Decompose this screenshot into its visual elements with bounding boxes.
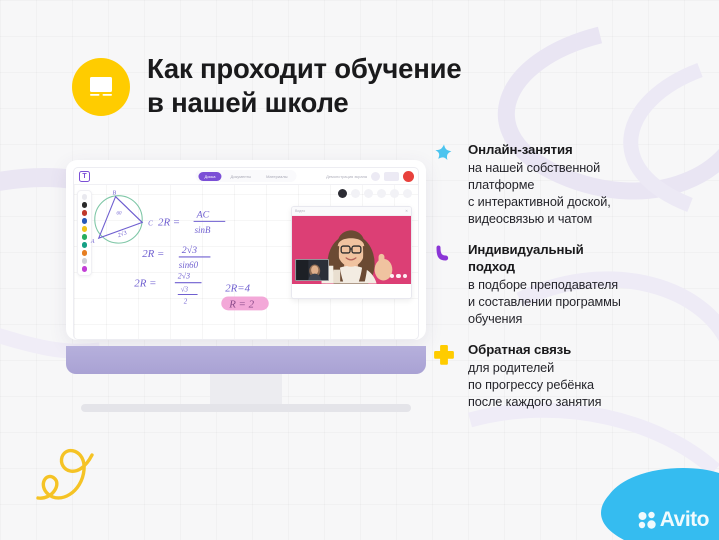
list-item: Онлайн-занятия на нашей собственной плат…: [432, 142, 704, 228]
monitor-body: T Доска Документы Материалы Демонстрация…: [66, 160, 426, 340]
formula-1-lhs: 2R =: [158, 216, 180, 228]
monitor-glyph: [86, 74, 116, 100]
avito-wordmark: Avito: [660, 508, 709, 532]
label-vertex-a: A: [90, 239, 95, 245]
video-panel-title: Видео: [295, 209, 305, 213]
monitor-base: [81, 404, 411, 412]
formula-3-subden: 2: [184, 298, 188, 305]
formula-2-lhs: 2R =: [142, 248, 164, 260]
plus-icon: [432, 342, 458, 411]
list-item-body: в подборе преподавателя и составлении пр…: [468, 277, 621, 328]
formula-2-den: sin60: [179, 260, 199, 270]
page-title: Как проходит обучение в нашей школе: [147, 52, 461, 120]
squiggle-decoration: [38, 451, 92, 499]
video-stage: [292, 216, 411, 284]
list-item-title: Обратная связь: [468, 342, 601, 359]
feature-list: Онлайн-занятия на нашей собственной плат…: [432, 142, 704, 425]
formula-4: 2R=4: [225, 283, 250, 295]
label-angle: 60: [117, 211, 122, 216]
video-controls[interactable]: [390, 274, 408, 279]
star-icon: [432, 142, 458, 228]
formula-2-num: 2√3: [182, 245, 197, 256]
whiteboard-screen: T Доска Документы Материалы Демонстрация…: [73, 167, 419, 340]
list-item-title: Индивидуальный подход: [468, 242, 621, 276]
list-item-title: Онлайн-занятия: [468, 142, 611, 159]
formula-1-den: sinB: [195, 225, 211, 235]
video-panel-footer: [292, 284, 411, 298]
formula-1-num: AC: [196, 209, 210, 220]
close-icon[interactable]: ✕: [405, 209, 408, 213]
avito-logo-icon: [637, 510, 657, 530]
mic-icon[interactable]: [390, 274, 395, 279]
monitor-icon: [72, 58, 130, 116]
video-call-panel: Видео ✕: [291, 206, 412, 299]
list-item-body: на нашей собственной платформе с интерак…: [468, 160, 611, 228]
page-header: Как проходит обучение в нашей школе: [72, 52, 461, 120]
monitor-mockup: T Доска Документы Материалы Демонстрация…: [66, 160, 426, 412]
label-vertex-c: C: [148, 220, 153, 227]
more-options-icon[interactable]: [403, 274, 408, 279]
list-item: Индивидуальный подход в подборе преподав…: [432, 242, 704, 328]
monitor-chin: [66, 346, 426, 374]
formula-3-lhs: 2R =: [134, 278, 156, 290]
formula-3-subnum: √3: [181, 286, 189, 294]
list-item-body: для родителей по прогрессу ребёнка после…: [468, 360, 601, 411]
list-item: Обратная связь для родителей по прогресс…: [432, 342, 704, 411]
hook-icon: [432, 242, 458, 328]
picture-in-picture[interactable]: [295, 259, 329, 281]
monitor-stand: [210, 374, 282, 404]
avito-watermark: Avito: [637, 508, 709, 532]
camera-icon[interactable]: [396, 274, 401, 279]
formula-3-num: 2√3: [178, 272, 190, 281]
label-vertex-b: B: [113, 191, 117, 197]
video-panel-header: Видео ✕: [292, 207, 411, 216]
formula-answer: R = 2: [228, 298, 254, 310]
